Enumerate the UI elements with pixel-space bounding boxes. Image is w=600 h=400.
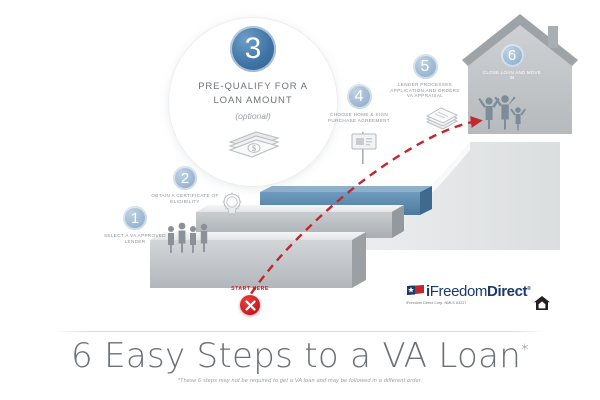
documents-stack-icon <box>427 108 457 129</box>
step-3[interactable]: 3 PRE-QUALIFY FOR A LOAN AMOUNT (optiona… <box>183 26 323 122</box>
page-title: 6 Easy Steps to a VA Loan* <box>0 336 600 376</box>
star-flag-icon <box>406 284 425 298</box>
start-here-dot <box>240 295 260 315</box>
start-here-marker[interactable]: START HERE <box>210 286 290 315</box>
footnote: *These 6 steps may not be required to ge… <box>0 378 600 384</box>
start-here-label: START HERE <box>210 286 290 292</box>
va-loan-infographic: $ 1 SELECT A VA APPROVED LENDER 2 OBTAIN… <box>0 0 600 400</box>
step-6-caption: CLOSE LOAN AND MOVE IN <box>481 70 543 81</box>
step-3-optional-note: (optional) <box>183 110 323 122</box>
step-6[interactable]: 6 CLOSE LOAN AND MOVE IN <box>481 44 543 81</box>
logo-word-two: Direct <box>487 283 527 300</box>
step-3-caption: PRE-QUALIFY FOR A LOAN AMOUNT (optional) <box>183 80 323 122</box>
step-5-caption: LENDER PROCESSES APPLICATION AND ORDERS … <box>388 82 462 99</box>
page-title-text: 6 Easy Steps to a VA Loan <box>71 336 521 376</box>
step-5[interactable]: 5 LENDER PROCESSES APPLICATION AND ORDER… <box>388 54 462 99</box>
equal-housing-opportunity-icon <box>533 295 551 311</box>
for-sale-sign-icon <box>352 132 376 164</box>
section-divider <box>52 331 548 332</box>
step-3-caption-text: PRE-QUALIFY FOR A LOAN AMOUNT <box>198 81 308 106</box>
step-1[interactable]: 1 SELECT A VA APPROVED LENDER <box>101 206 169 244</box>
page-title-asterisk: * <box>521 341 529 359</box>
step-2-caption: OBTAIN A CERTIFICATE OF ELIGIBILITY <box>150 193 220 204</box>
step-4-badge: 4 <box>347 84 372 109</box>
step-4[interactable]: 4 CHOOSE HOME & SIGN PURCHASE AGREEMENT <box>326 84 392 123</box>
logo-trademark: ® <box>527 286 530 292</box>
x-mark-icon <box>245 300 256 311</box>
step-4-caption: CHOOSE HOME & SIGN PURCHASE AGREEMENT <box>326 112 392 123</box>
logo-word-one: Freedom <box>430 283 487 300</box>
step-2-badge: 2 <box>173 166 197 190</box>
svg-text:$: $ <box>252 144 256 153</box>
step-6-badge: 6 <box>501 44 524 67</box>
step-5-badge: 5 <box>413 54 438 79</box>
step-3-badge: 3 <box>230 26 276 72</box>
money-bills-icon: $ <box>226 124 282 158</box>
step-1-caption: SELECT A VA APPROVED LENDER <box>101 233 169 244</box>
step-2[interactable]: 2 OBTAIN A CERTIFICATE OF ELIGIBILITY <box>150 166 220 204</box>
step-1-badge: 1 <box>123 206 147 230</box>
illustration-canvas: $ 1 SELECT A VA APPROVED LENDER 2 OBTAIN… <box>0 0 600 331</box>
